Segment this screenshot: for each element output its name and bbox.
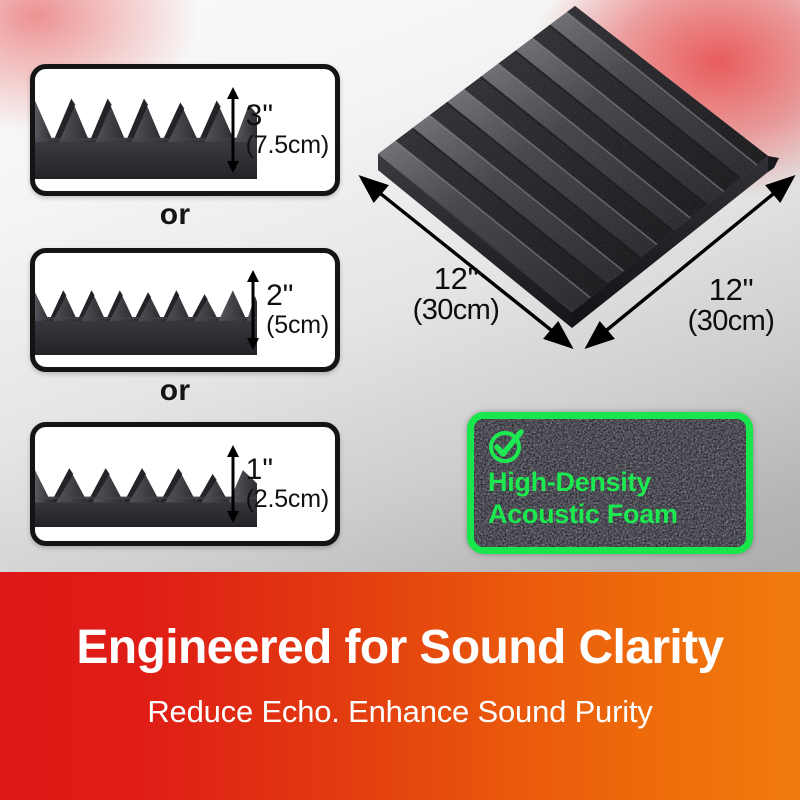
high-density-badge[interactable]: High-Density Acoustic Foam [467, 412, 753, 554]
dimension-arrow-2-inch [246, 270, 260, 350]
dimension-left-inches: 12" [396, 263, 516, 294]
banner-subheadline: Reduce Echo. Enhance Sound Purity [0, 694, 800, 730]
foam-profile-3-inch [35, 81, 257, 179]
separator-or-2: or [30, 374, 320, 408]
banner-headline: Engineered for Sound Clarity [0, 620, 800, 675]
panel-dimension-right: 12" (30cm) [666, 274, 796, 336]
thickness-inches-3: 3" [246, 101, 329, 132]
thickness-inches-1: 1" [246, 455, 329, 486]
separator-or-1: or [30, 198, 320, 232]
dimension-text-2-inch: 2" (5cm) [266, 281, 329, 338]
thickness-metric-2: (5cm) [266, 313, 329, 339]
acoustic-foam-panel [350, 0, 800, 414]
hero-section: 12" (30cm) 12" (30cm) [0, 0, 800, 572]
badge-text-line-2: Acoustic Foam [488, 499, 678, 530]
dimension-left-metric: (30cm) [396, 296, 516, 325]
foam-profile-2-inch [35, 279, 257, 355]
dimension-text-1-inch: 1" (2.5cm) [246, 455, 329, 512]
dimension-text-3-inch: 3" (7.5cm) [246, 101, 329, 158]
bottom-banner: Engineered for Sound Clarity Reduce Echo… [0, 572, 800, 800]
dimension-right-inches: 12" [666, 274, 796, 305]
dimension-arrow-3-inch [226, 87, 240, 173]
check-circle-icon [486, 425, 528, 467]
dimension-group-3-inch: 3" (7.5cm) [226, 69, 329, 191]
dimension-right-metric: (30cm) [666, 307, 796, 336]
panel-dimension-left: 12" (30cm) [396, 263, 516, 325]
badge-text-line-1: High-Density [488, 467, 651, 498]
foam-profile-1-inch [35, 455, 257, 527]
dimension-group-2-inch: 2" (5cm) [246, 253, 329, 367]
dimension-group-1-inch: 1" (2.5cm) [226, 427, 329, 541]
thickness-inches-2: 2" [266, 281, 329, 312]
dimension-arrow-1-inch [226, 445, 240, 523]
thickness-metric-1: (2.5cm) [246, 487, 329, 513]
infographic-page: 12" (30cm) 12" (30cm) [0, 0, 800, 800]
thickness-card-3-inch[interactable]: 3" (7.5cm) [30, 64, 340, 196]
thickness-card-2-inch[interactable]: 2" (5cm) [30, 248, 340, 372]
thickness-metric-3: (7.5cm) [246, 133, 329, 159]
thickness-card-1-inch[interactable]: 1" (2.5cm) [30, 422, 340, 546]
